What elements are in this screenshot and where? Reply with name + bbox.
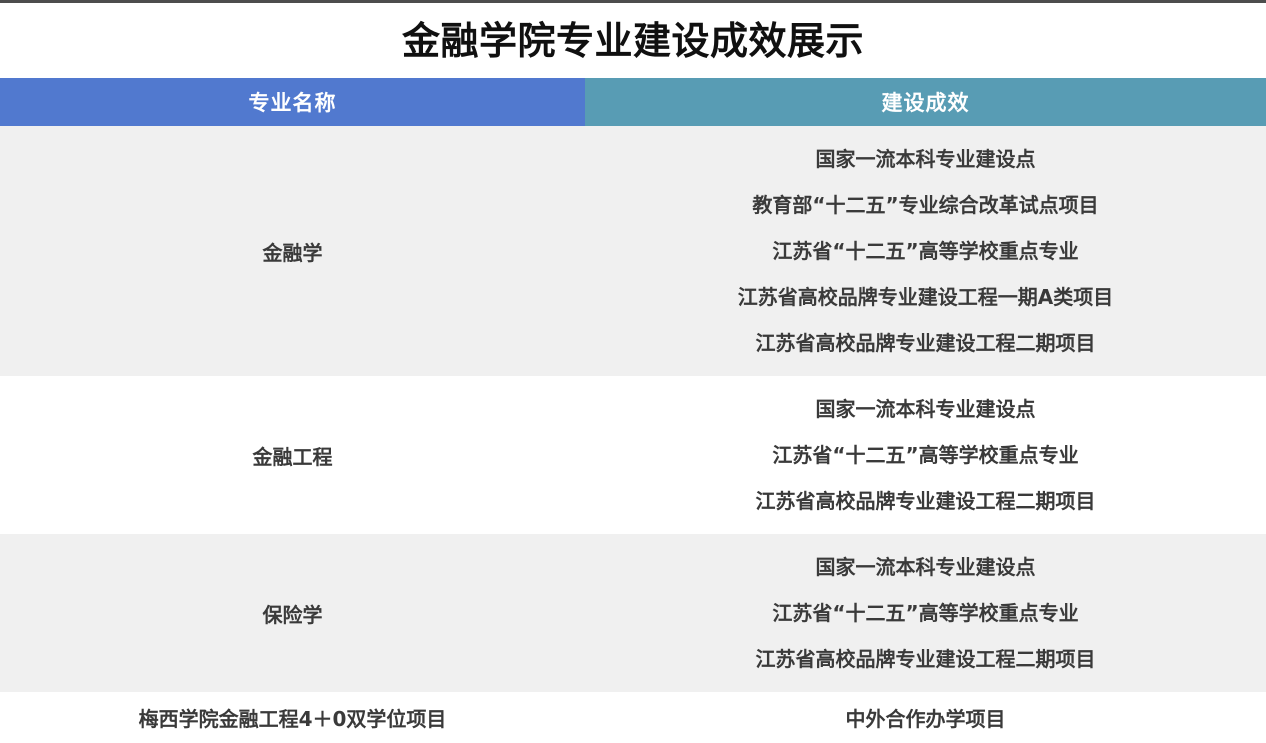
- table-row: 金融工程 国家一流本科专业建设点 江苏省“十二五”高等学校重点专业 江苏省高校品…: [0, 376, 1266, 534]
- column-header-major: 专业名称: [0, 78, 585, 126]
- list-item: 江苏省高校品牌专业建设工程一期A类项目: [585, 274, 1266, 320]
- cell-achievements: 中外合作办学项目: [585, 692, 1266, 743]
- presentation-slide: 金融学院专业建设成效展示 专业名称 建设成效 金融学 国家一流本科专业建设点 教…: [0, 0, 1266, 713]
- list-item: 江苏省高校品牌专业建设工程二期项目: [585, 636, 1266, 682]
- list-item: 国家一流本科专业建设点: [585, 544, 1266, 590]
- list-item: 江苏省“十二五”高等学校重点专业: [585, 228, 1266, 274]
- cell-major-name: 梅西学院金融工程4＋0双学位项目: [0, 692, 585, 743]
- majors-achievements-table: 专业名称 建设成效 金融学 国家一流本科专业建设点 教育部“十二五”专业综合改革…: [0, 78, 1266, 743]
- table-row: 金融学 国家一流本科专业建设点 教育部“十二五”专业综合改革试点项目 江苏省“十…: [0, 126, 1266, 376]
- list-item: 江苏省高校品牌专业建设工程二期项目: [585, 320, 1266, 366]
- list-item: 江苏省“十二五”高等学校重点专业: [585, 432, 1266, 478]
- cell-major-name: 保险学: [0, 534, 585, 692]
- list-item: 江苏省高校品牌专业建设工程二期项目: [585, 478, 1266, 524]
- cell-major-name: 金融工程: [0, 376, 585, 534]
- slide-title-bar: 金融学院专业建设成效展示: [0, 3, 1266, 78]
- cell-achievements: 国家一流本科专业建设点 江苏省“十二五”高等学校重点专业 江苏省高校品牌专业建设…: [585, 376, 1266, 534]
- cell-achievements: 国家一流本科专业建设点 教育部“十二五”专业综合改革试点项目 江苏省“十二五”高…: [585, 126, 1266, 376]
- list-item: 国家一流本科专业建设点: [585, 386, 1266, 432]
- table-row: 梅西学院金融工程4＋0双学位项目 中外合作办学项目: [0, 692, 1266, 743]
- achievement-list: 国家一流本科专业建设点 江苏省“十二五”高等学校重点专业 江苏省高校品牌专业建设…: [585, 534, 1266, 692]
- table-row: 保险学 国家一流本科专业建设点 江苏省“十二五”高等学校重点专业 江苏省高校品牌…: [0, 534, 1266, 692]
- table-header-row: 专业名称 建设成效: [0, 78, 1266, 126]
- list-item: 江苏省“十二五”高等学校重点专业: [585, 590, 1266, 636]
- list-item: 国家一流本科专业建设点: [585, 136, 1266, 182]
- page-title: 金融学院专业建设成效展示: [402, 22, 864, 60]
- cell-achievements: 国家一流本科专业建设点 江苏省“十二五”高等学校重点专业 江苏省高校品牌专业建设…: [585, 534, 1266, 692]
- achievement-list: 国家一流本科专业建设点 江苏省“十二五”高等学校重点专业 江苏省高校品牌专业建设…: [585, 376, 1266, 534]
- table-header: 专业名称 建设成效: [0, 78, 1266, 126]
- cell-major-name: 金融学: [0, 126, 585, 376]
- column-header-achievements: 建设成效: [585, 78, 1266, 126]
- table-body: 金融学 国家一流本科专业建设点 教育部“十二五”专业综合改革试点项目 江苏省“十…: [0, 126, 1266, 743]
- achievement-list: 国家一流本科专业建设点 教育部“十二五”专业综合改革试点项目 江苏省“十二五”高…: [585, 126, 1266, 376]
- list-item: 教育部“十二五”专业综合改革试点项目: [585, 182, 1266, 228]
